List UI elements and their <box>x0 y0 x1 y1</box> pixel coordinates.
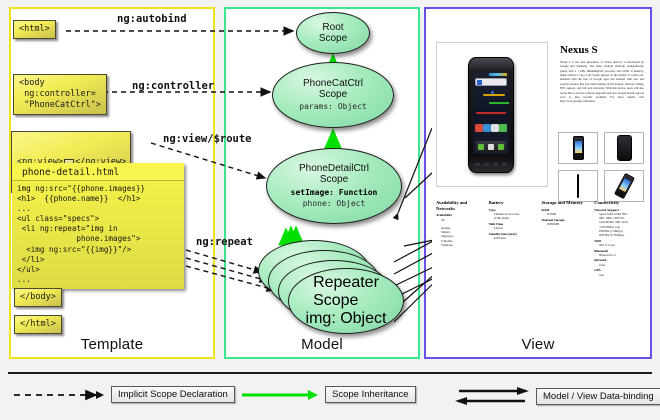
thumbnail-item[interactable] <box>558 132 598 164</box>
app-icon-maps <box>499 124 507 132</box>
legend-divider <box>8 372 652 374</box>
panel-model-label: Model <box>226 336 418 353</box>
spec-column: Connectivity Network Support Quad-band G… <box>594 200 642 277</box>
wallpaper-dot-1 <box>491 91 494 94</box>
scope-phonecatctrl-prop-params: params: Object <box>299 102 366 112</box>
note-phone-detail-html: phone-detail.html img ng:src="{{phone.im… <box>12 163 184 289</box>
scope-root: Root Scope <box>296 12 370 54</box>
phone-hardware-buttons <box>473 160 509 168</box>
spec-value: Lithium Ion (Li-Ion) (1500 mAh) <box>489 212 537 220</box>
app-icon-messaging <box>475 124 483 132</box>
app-icon-market <box>491 124 499 132</box>
dock-icon-phone <box>478 144 484 150</box>
search-widget-icon <box>475 78 507 86</box>
button-menu-icon <box>484 163 489 166</box>
legend: Implicit Scope Declaration Scope Inherit… <box>0 372 660 420</box>
label-ng-repeat: ng:repeat <box>196 236 253 248</box>
diagram-canvas: Template Model View <box>0 0 660 420</box>
tag-body-open: <body ng:controller= "PhoneCatCtrl"> <box>13 74 107 115</box>
legend-item-implicit-scope-declaration: Implicit Scope Declaration <box>12 386 235 403</box>
scope-repeater-title: Repeater Scope <box>313 274 379 310</box>
legend-item-scope-inheritance: Scope Inheritance <box>240 386 416 403</box>
thumbnail-grid <box>558 132 646 202</box>
app-dock <box>476 141 506 152</box>
button-home-icon <box>502 163 507 166</box>
label-ng-controller: ng:controller <box>132 80 214 92</box>
spec-value: 802.11 b/g/n <box>594 243 642 247</box>
spec-heading: Storage and Memory <box>542 200 590 206</box>
thumb-angled-icon <box>614 173 635 199</box>
spec-value: Bluetooth 2.1 <box>594 253 642 257</box>
scope-phonedetailctrl-prop-phone: phone: Object <box>303 199 366 209</box>
scope-root-title: Root Scope <box>319 22 347 44</box>
spec-value: Quad-band GSM: 850, 900, 1800, 1900 Tri-… <box>594 212 642 237</box>
spec-table: Availability and Networks Availability 3… <box>436 200 642 277</box>
scope-phonecatctrl: PhoneCatCtrl Scope params: Object <box>272 62 394 128</box>
thumbnail-item[interactable] <box>558 170 598 202</box>
spec-value: 3G Orange, Singtel, Singapore T-Mobile, … <box>436 218 484 247</box>
tag-html-open: <html> <box>13 20 56 39</box>
wallpaper-line-3 <box>476 112 506 114</box>
phone-screen <box>473 72 509 154</box>
legend-label: Scope Inheritance <box>325 386 416 403</box>
legend-label: Model / View Data-binding <box>536 388 660 405</box>
app-icon-browser <box>483 124 491 132</box>
spec-column: Storage and Memory RAM 512MB Internal St… <box>542 200 590 277</box>
panel-template-label: Template <box>11 336 213 353</box>
spec-value: 16384MB <box>542 222 590 226</box>
view-rendered-page: Nexus S Nexus S is the next generation o… <box>432 22 646 332</box>
scope-repeater-stack: Repeater Scope img: Object <box>258 238 410 338</box>
spec-heading: Battery <box>489 200 537 206</box>
button-back-icon <box>475 163 480 166</box>
wallpaper-line-1 <box>483 94 505 96</box>
spec-value: false <box>594 263 642 267</box>
label-ng-autobind: ng:autobind <box>117 13 187 25</box>
phone-hero-frame <box>436 42 548 187</box>
tag-html-close: </html> <box>14 315 62 334</box>
green-arrow-icon <box>240 388 318 402</box>
button-search-icon <box>493 163 498 166</box>
legend-item-model-view-data-binding: Model / View Data-binding <box>455 386 660 406</box>
scope-phonedetailctrl-title: PhoneDetailCtrl Scope <box>299 163 369 185</box>
spec-value: true <box>594 273 642 277</box>
scope-phonedetailctrl: PhoneDetailCtrl Scope setImage: Function… <box>266 148 402 224</box>
scope-phonedetailctrl-prop-setimage: setImage: Function <box>291 188 378 198</box>
panel-view-label: View <box>426 336 650 353</box>
wallpaper-line-2 <box>489 102 509 104</box>
note-title: phone-detail.html <box>12 163 184 180</box>
label-ng-view-route: ng:view/$route <box>163 133 252 145</box>
app-icon-row <box>475 124 507 132</box>
phone-device-image <box>468 57 514 173</box>
thumb-edge-icon <box>577 174 579 198</box>
spec-heading: Availability and Networks <box>436 200 484 211</box>
note-code: img ng:src="{{phone.images}} <h1> {{phon… <box>12 180 184 289</box>
view-phone-title: Nexus S <box>560 44 644 56</box>
thumbnail-item[interactable] <box>604 132 644 164</box>
scope-phonecatctrl-title: PhoneCatCtrl Scope <box>303 78 363 100</box>
thumb-back-icon <box>617 135 632 161</box>
dock-icon-launcher <box>488 144 494 150</box>
dashed-arrow-icon <box>12 388 104 402</box>
thumb-front-lit-icon <box>573 136 584 160</box>
legend-label: Implicit Scope Declaration <box>111 386 235 403</box>
spec-column: Battery Type Lithium Ion (Li-Ion) (1500 … <box>489 200 537 277</box>
spec-value: 512MB <box>542 212 590 216</box>
thumbnail-item[interactable] <box>604 170 644 202</box>
spec-value: 6 hours <box>489 226 537 230</box>
dock-icon-browser <box>498 144 504 150</box>
double-arrow-icon <box>455 386 529 406</box>
spec-heading: Connectivity <box>594 200 642 206</box>
scope-repeater: Repeater Scope img: Object <box>288 268 404 334</box>
status-bar-icon <box>489 73 507 76</box>
spec-value: 428 hours <box>489 236 537 240</box>
tag-body-close: </body> <box>14 288 62 307</box>
view-phone-description: Nexus S is the next generation of Nexus … <box>560 60 644 104</box>
scope-repeater-prop-img: img: Object <box>306 310 387 328</box>
spec-column: Availability and Networks Availability 3… <box>436 200 484 277</box>
